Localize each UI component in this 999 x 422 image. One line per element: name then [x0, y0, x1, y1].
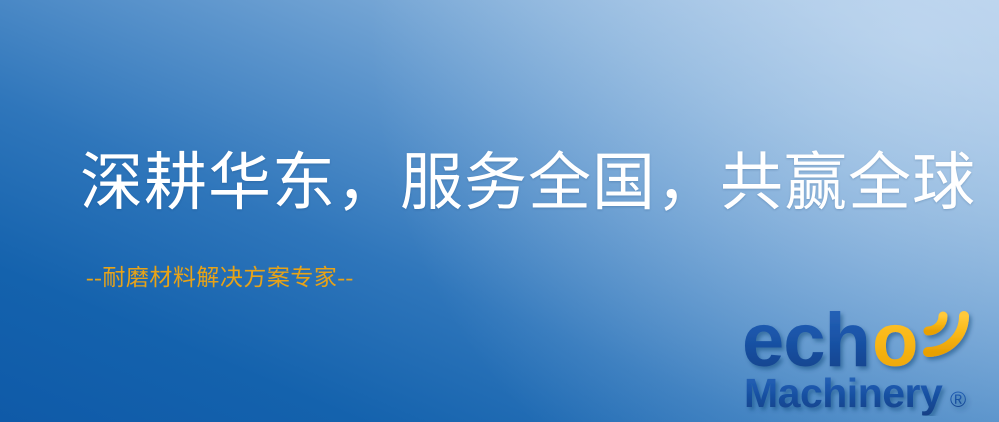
logo-trademark-symbol: ® — [950, 387, 966, 412]
banner-headline: 深耕华东，服务全国，共赢全球 — [80, 152, 976, 215]
logo-tagline: Machinery ® — [744, 370, 966, 416]
company-logo[interactable]: ech o Machinery ® — [742, 296, 994, 416]
promo-banner: 深耕华东，服务全国，共赢全球 --耐磨材料解决方案专家-- — [0, 0, 999, 422]
logo-machinery-text: Machinery — [744, 370, 943, 416]
banner-subtitle: --耐磨材料解决方案专家-- — [86, 266, 354, 289]
signal-waves-icon — [928, 316, 964, 352]
